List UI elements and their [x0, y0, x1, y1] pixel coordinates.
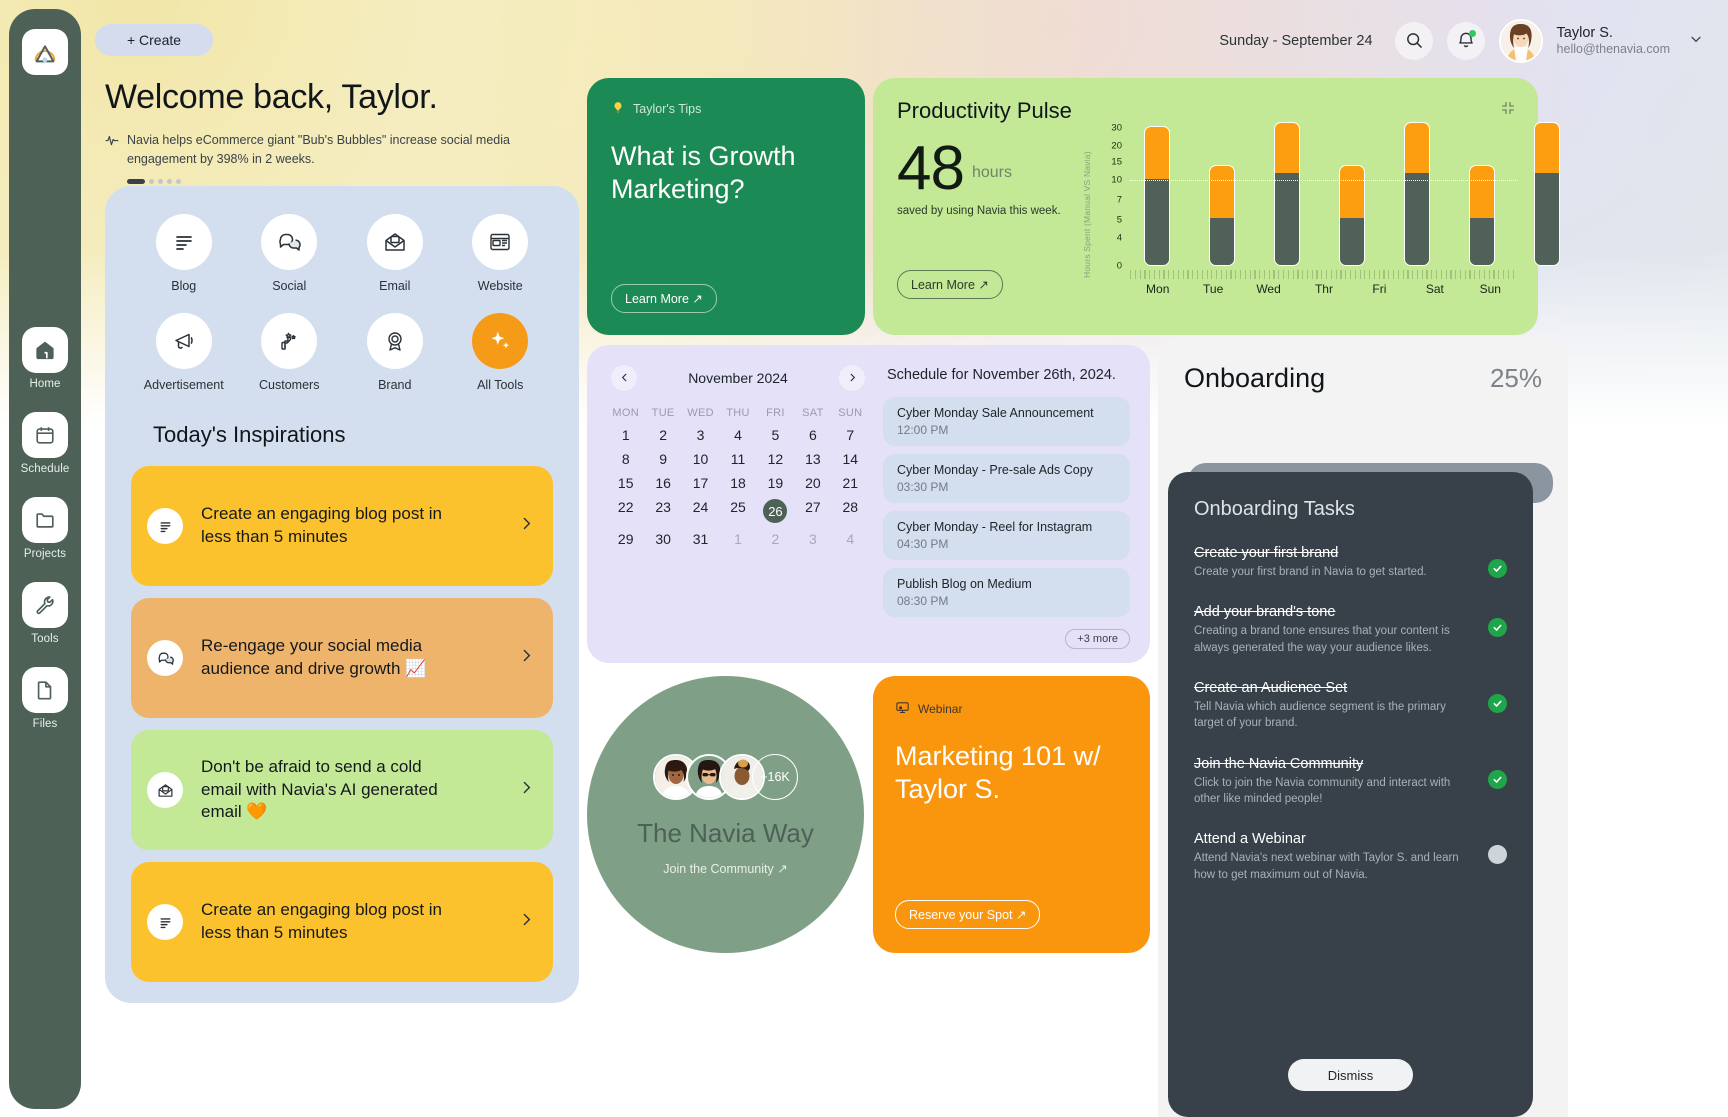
- x-tick: Wed: [1241, 282, 1296, 296]
- page-title: Welcome back, Taylor.: [105, 78, 525, 117]
- calendar-dow: SAT: [794, 407, 831, 419]
- topbar-right: Sunday - September 24: [1219, 16, 1704, 66]
- pulse-unit: hours: [972, 164, 1012, 181]
- schedule-list: Schedule for November 26th, 2024. Cyber …: [883, 363, 1130, 645]
- calendar-day[interactable]: 22: [607, 499, 644, 523]
- file-icon: [22, 667, 68, 713]
- wrench-icon: [22, 582, 68, 628]
- task-title: Attend a Webinar: [1194, 831, 1478, 847]
- schedule-item[interactable]: Publish Blog on Medium 08:30 PM: [883, 568, 1130, 617]
- dismiss-button[interactable]: Dismiss: [1288, 1059, 1413, 1091]
- productivity-pulse-card: Productivity Pulse 48hours saved by usin…: [873, 78, 1538, 335]
- blog-lines-icon: [147, 508, 183, 544]
- schedule-more-button[interactable]: +3 more: [1065, 629, 1130, 649]
- calendar-day[interactable]: 4: [719, 427, 756, 443]
- user-email: hello@thenavia.com: [1557, 42, 1670, 58]
- bar-lower-segment: [1340, 218, 1364, 265]
- task-checkbox-checked[interactable]: [1488, 618, 1507, 637]
- pulse-value: 48: [897, 134, 964, 203]
- sidebar-item-label: Tools: [31, 633, 58, 645]
- pulse-caption: saved by using Navia this week.: [897, 205, 1077, 217]
- webinar-kicker: Webinar: [895, 700, 1128, 718]
- calendar-dow: THU: [719, 407, 756, 419]
- notifications-button[interactable]: [1447, 22, 1485, 60]
- schedule-item-name: Cyber Monday - Pre-sale Ads Copy: [897, 463, 1116, 477]
- carousel-dot[interactable]: [158, 179, 163, 184]
- reserve-spot-button[interactable]: Reserve your Spot ↗: [895, 900, 1040, 929]
- blog-lines-icon: [156, 214, 212, 270]
- chart-y-ticks: 0 4 5 7 10 15 20 30: [1098, 126, 1122, 266]
- sidebar-item-label: Files: [33, 718, 58, 730]
- bar-lower-segment: [1535, 173, 1559, 265]
- bar-fri[interactable]: [1404, 122, 1430, 266]
- current-date: Sunday - September 24: [1219, 33, 1372, 49]
- tool-label: Blog: [171, 279, 196, 293]
- calendar-dow: TUE: [644, 407, 681, 419]
- tips-title: What is Growth Marketing?: [611, 140, 841, 206]
- tool-label: Website: [478, 279, 523, 293]
- calendar-day[interactable]: 12: [757, 451, 794, 467]
- y-tick: 0: [1117, 261, 1122, 272]
- navia-way-title: The Navia Way: [637, 818, 814, 849]
- activity-pulse-icon: [105, 133, 119, 169]
- calendar-dow: WED: [682, 407, 719, 419]
- schedule-item-time: 08:30 PM: [897, 594, 1116, 608]
- carousel-dot[interactable]: [176, 179, 181, 184]
- carousel-dot[interactable]: [127, 179, 145, 184]
- home-icon: [22, 327, 68, 373]
- calendar-day[interactable]: 1: [607, 427, 644, 443]
- calendar-day[interactable]: 6: [794, 427, 831, 443]
- bar-lower-segment: [1210, 218, 1234, 265]
- pulse-learn-more-button[interactable]: Learn More ↗: [897, 270, 1003, 299]
- chevron-down-icon[interactable]: [1688, 31, 1704, 52]
- x-tick: Tue: [1185, 282, 1240, 296]
- tool-label: Advertisement: [144, 378, 224, 392]
- onboarding-header: Onboarding 25%: [1184, 363, 1542, 394]
- sidebar-nav: Home Schedule Projects: [21, 327, 70, 730]
- calendar-day[interactable]: 4: [832, 531, 869, 547]
- task-description: Create your first brand in Navia to get …: [1194, 564, 1478, 580]
- calendar-day[interactable]: 1: [719, 531, 756, 547]
- carousel-dot[interactable]: [149, 179, 154, 184]
- calendar-day[interactable]: 3: [794, 531, 831, 547]
- megaphone-icon: [156, 313, 212, 369]
- tool-website[interactable]: Website: [448, 214, 554, 293]
- schedule-item-name: Publish Blog on Medium: [897, 577, 1116, 591]
- tool-brand[interactable]: Brand: [342, 313, 448, 392]
- task-description: Tell Navia which audience segment is the…: [1194, 699, 1478, 732]
- schedule-item-time: 04:30 PM: [897, 537, 1116, 551]
- calendar-dow: SUN: [832, 407, 869, 419]
- inspirations-title: Today's Inspirations: [153, 422, 553, 448]
- create-button[interactable]: + Create: [95, 24, 213, 56]
- calendar-dow: FRI: [757, 407, 794, 419]
- pulse-summary: 48hours saved by using Navia this week.: [897, 140, 1077, 217]
- y-tick: 4: [1117, 233, 1122, 244]
- calendar-day[interactable]: 16: [644, 475, 681, 491]
- carousel-dot[interactable]: [167, 179, 172, 184]
- onboarding-tasks-title: Onboarding Tasks: [1194, 498, 1507, 521]
- sidebar-item-files[interactable]: Files: [22, 667, 68, 730]
- y-tick: 5: [1117, 215, 1122, 226]
- calendar-day[interactable]: 19: [757, 475, 794, 491]
- bar-mon[interactable]: [1144, 126, 1170, 266]
- sidebar-item-home[interactable]: Home: [22, 327, 68, 390]
- inspiration-text: Create an engaging blog post in less tha…: [201, 503, 451, 549]
- presentation-screen-icon: [895, 700, 910, 718]
- user-name: Taylor S.: [1557, 24, 1670, 42]
- tool-label: Customers: [259, 378, 319, 392]
- y-tick: 15: [1111, 157, 1122, 168]
- carousel-dots[interactable]: [127, 179, 525, 184]
- y-tick: 30: [1111, 123, 1122, 134]
- tools-grid: Blog Social: [131, 214, 553, 392]
- calendar-day[interactable]: 20: [794, 475, 831, 491]
- onboarding-task[interactable]: Join the Navia Community Click to join t…: [1194, 756, 1507, 808]
- onboarding-task[interactable]: Create your first brand Create your firs…: [1194, 545, 1507, 580]
- calendar-day[interactable]: 2: [644, 427, 681, 443]
- x-tick: Sat: [1407, 282, 1462, 296]
- calendar-day[interactable]: 30: [644, 531, 681, 547]
- chat-bubbles-icon: [261, 214, 317, 270]
- open-envelope-icon: [147, 772, 183, 808]
- onboarding-task[interactable]: Attend a Webinar Attend Navia's next web…: [1194, 831, 1507, 883]
- calendar-day[interactable]: 15: [607, 475, 644, 491]
- tool-email[interactable]: Email: [342, 214, 448, 293]
- schedule-item-name: Cyber Monday Sale Announcement: [897, 406, 1116, 420]
- calendar-day[interactable]: 7: [832, 427, 869, 443]
- task-checkbox-checked[interactable]: [1488, 694, 1507, 713]
- tips-learn-more-button[interactable]: Learn More ↗: [611, 284, 717, 313]
- schedule-title: Schedule for November 26th, 2024.: [887, 367, 1130, 383]
- dashboard-page: Home Schedule Projects: [0, 0, 1728, 1117]
- calendar-day[interactable]: 5: [757, 427, 794, 443]
- y-tick: 20: [1111, 141, 1122, 152]
- chevron-right-icon[interactable]: [518, 515, 535, 537]
- tips-kicker-label: Taylor's Tips: [633, 102, 701, 116]
- inspiration-text: Re-engage your social media audience and…: [201, 635, 451, 681]
- task-description: Attend Navia's next webinar with Taylor …: [1194, 850, 1478, 883]
- chevron-right-icon[interactable]: [518, 647, 535, 669]
- calendar-header: November 2024: [607, 363, 869, 391]
- welcome-block: Welcome back, Taylor. Navia helps eComme…: [105, 78, 525, 184]
- y-tick: 7: [1117, 195, 1122, 206]
- open-envelope-icon: [367, 214, 423, 270]
- news-ticker-text: Navia helps eCommerce giant "Bub's Bubbl…: [127, 131, 525, 169]
- chart-x-axis-labels: Mon Tue Wed Thr Fri Sat Sun: [1130, 282, 1518, 296]
- pulse-title: Productivity Pulse: [897, 98, 1514, 124]
- sidebar-item-schedule[interactable]: Schedule: [21, 412, 70, 475]
- calendar-day[interactable]: 9: [644, 451, 681, 467]
- chevron-right-icon[interactable]: [518, 779, 535, 801]
- schedule-item-time: 03:30 PM: [897, 480, 1116, 494]
- calendar-day[interactable]: 14: [832, 451, 869, 467]
- schedule-item[interactable]: Cyber Monday Sale Announcement 12:00 PM: [883, 397, 1130, 446]
- x-tick: Thr: [1296, 282, 1351, 296]
- task-title: Create your first brand: [1194, 545, 1478, 561]
- tools-panel: Blog Social: [105, 186, 579, 1003]
- task-description: Creating a brand tone ensures that your …: [1194, 623, 1478, 656]
- calendar-next-button[interactable]: [839, 365, 865, 391]
- calendar-day[interactable]: 3: [682, 427, 719, 443]
- lightbulb-icon: [611, 100, 625, 118]
- inspiration-card[interactable]: Create an engaging blog post in less tha…: [131, 466, 553, 586]
- chat-bubbles-icon: [147, 640, 183, 676]
- calendar-day[interactable]: 13: [794, 451, 831, 467]
- pulse-bar-chart: Hours Spent (Manual VS Navia) 0 4 5 7 10…: [1088, 126, 1518, 326]
- tips-kicker: Taylor's Tips: [611, 100, 841, 118]
- chart-plot-area: [1130, 126, 1518, 266]
- user-meta: Taylor S. hello@thenavia.com: [1557, 24, 1670, 58]
- tool-label: Email: [379, 279, 410, 293]
- notification-dot: [1469, 30, 1476, 37]
- task-body: Create an Audience Set Tell Navia which …: [1194, 680, 1478, 732]
- calendar-day[interactable]: 31: [682, 531, 719, 547]
- avatar[interactable]: [1499, 19, 1543, 63]
- task-description: Click to join the Navia community and in…: [1194, 775, 1478, 808]
- calendar-day[interactable]: 27: [794, 499, 831, 523]
- navia-way-card[interactable]: +16K The Navia Way Join the Community ↗: [587, 676, 864, 953]
- collapse-icon[interactable]: [1500, 100, 1516, 121]
- tool-all-tools[interactable]: All Tools: [448, 313, 554, 392]
- task-title: Join the Navia Community: [1194, 756, 1478, 772]
- webinar-title: Marketing 101 w/ Taylor S.: [895, 740, 1128, 806]
- bar-lower-segment: [1275, 173, 1299, 265]
- chart-y-axis-label: Hours Spent (Manual VS Navia): [1082, 148, 1092, 278]
- schedule-item-name: Cyber Monday - Reel for Instagram: [897, 520, 1116, 534]
- sidebar: Home Schedule Projects: [9, 9, 81, 1109]
- calendar-day[interactable]: 29: [607, 531, 644, 547]
- chart-bottom-ruler: [1130, 270, 1518, 279]
- news-ticker: Navia helps eCommerce giant "Bub's Bubbl…: [105, 131, 525, 169]
- onboarding-task[interactable]: Add your brand's tone Creating a brand t…: [1194, 604, 1507, 656]
- folder-icon: [22, 497, 68, 543]
- calendar-dow: MON: [607, 407, 644, 419]
- calendar-month-label: November 2024: [688, 370, 788, 386]
- community-count-badge: +16K: [752, 754, 798, 800]
- blog-lines-icon: [147, 904, 183, 940]
- bar-lower-segment: [1470, 218, 1494, 265]
- schedule-item-time: 12:00 PM: [897, 423, 1116, 437]
- tool-social[interactable]: Social: [237, 214, 343, 293]
- calendar-day[interactable]: 25: [719, 499, 756, 523]
- inspiration-card[interactable]: Re-engage your social media audience and…: [131, 598, 553, 718]
- calendar-grid: MON TUE WED THU FRI SAT SUN 1 2 3 4 5 6 …: [607, 407, 869, 547]
- onboarding-progress-percent: 25%: [1490, 363, 1542, 394]
- calendar-day[interactable]: 18: [719, 475, 756, 491]
- task-body: Add your brand's tone Creating a brand t…: [1194, 604, 1478, 656]
- task-checkbox-checked[interactable]: [1488, 559, 1507, 578]
- bar-lower-segment: [1405, 173, 1429, 265]
- calendar-day[interactable]: 23: [644, 499, 681, 523]
- y-tick: 10: [1111, 175, 1122, 186]
- join-community-link[interactable]: Join the Community ↗: [663, 861, 787, 876]
- x-tick: Fri: [1352, 282, 1407, 296]
- calendar-icon: [22, 412, 68, 458]
- chevron-right-icon[interactable]: [518, 911, 535, 933]
- bar-wed[interactable]: [1274, 122, 1300, 266]
- webinar-card: Webinar Marketing 101 w/ Taylor S. Reser…: [873, 676, 1150, 953]
- inspiration-card[interactable]: Don't be afraid to send a cold email wit…: [131, 730, 553, 850]
- calendar-day[interactable]: 11: [719, 451, 756, 467]
- tool-label: Brand: [378, 378, 411, 392]
- onboarding-tasks-card: Onboarding Tasks Create your first brand…: [1168, 472, 1533, 1117]
- calendar-day[interactable]: 24: [682, 499, 719, 523]
- calendar-day[interactable]: 2: [757, 531, 794, 547]
- chart-reference-line: [1130, 180, 1518, 181]
- task-body: Attend a Webinar Attend Navia's next web…: [1194, 831, 1478, 883]
- task-body: Join the Navia Community Click to join t…: [1194, 756, 1478, 808]
- x-tick: Mon: [1130, 282, 1185, 296]
- schedule-item[interactable]: Cyber Monday - Pre-sale Ads Copy 03:30 P…: [883, 454, 1130, 503]
- bar-sun[interactable]: [1534, 122, 1560, 266]
- calendar-day[interactable]: 17: [682, 475, 719, 491]
- bar-lower-segment: [1145, 179, 1169, 265]
- search-icon: [1404, 30, 1424, 53]
- tool-customers[interactable]: Customers: [237, 313, 343, 392]
- chevron-left-icon: [619, 371, 630, 386]
- task-title: Add your brand's tone: [1194, 604, 1478, 620]
- task-title: Create an Audience Set: [1194, 680, 1478, 696]
- thumbs-up-stars-icon: [261, 313, 317, 369]
- sidebar-item-projects[interactable]: Projects: [22, 497, 68, 560]
- task-checkbox-checked[interactable]: [1488, 770, 1507, 789]
- calendar-day[interactable]: 28: [832, 499, 869, 523]
- taylors-tips-card: Taylor's Tips What is Growth Marketing? …: [587, 78, 865, 335]
- inspiration-text: Create an engaging blog post in less tha…: [201, 899, 451, 945]
- inspirations-list: Create an engaging blog post in less tha…: [131, 466, 553, 982]
- calendar-day[interactable]: 10: [682, 451, 719, 467]
- tool-blog[interactable]: Blog: [131, 214, 237, 293]
- sidebar-item-label: Schedule: [21, 463, 70, 475]
- calendar-prev-button[interactable]: [611, 365, 637, 391]
- award-ribbon-icon: [367, 313, 423, 369]
- sidebar-item-tools[interactable]: Tools: [22, 582, 68, 645]
- chevron-right-icon: [847, 371, 858, 386]
- browser-window-icon: [472, 214, 528, 270]
- onboarding-task[interactable]: Create an Audience Set Tell Navia which …: [1194, 680, 1507, 732]
- inspiration-text: Don't be afraid to send a cold email wit…: [201, 756, 451, 825]
- calendar-day[interactable]: 8: [607, 451, 644, 467]
- navia-logo-icon[interactable]: [22, 29, 68, 75]
- community-avatars: +16K: [653, 754, 798, 800]
- x-tick: Sun: [1463, 282, 1518, 296]
- task-body: Create your first brand Create your firs…: [1194, 545, 1478, 580]
- inspiration-card[interactable]: Create an engaging blog post in less tha…: [131, 862, 553, 982]
- calendar: November 2024 MON TUE WED THU FRI SAT SU…: [607, 363, 869, 645]
- calendar-day-selected[interactable]: 26: [757, 499, 794, 523]
- sidebar-item-label: Projects: [24, 548, 66, 560]
- sidebar-item-label: Home: [29, 378, 60, 390]
- webinar-kicker-label: Webinar: [918, 702, 962, 716]
- search-button[interactable]: [1395, 22, 1433, 60]
- tool-label: All Tools: [477, 378, 523, 392]
- calendar-day[interactable]: 21: [832, 475, 869, 491]
- schedule-item[interactable]: Cyber Monday - Reel for Instagram 04:30 …: [883, 511, 1130, 560]
- tool-advertisement[interactable]: Advertisement: [131, 313, 237, 392]
- sparkle-icon: [472, 313, 528, 369]
- calendar-schedule-card: November 2024 MON TUE WED THU FRI SAT SU…: [587, 345, 1150, 663]
- task-checkbox-unchecked[interactable]: [1488, 845, 1507, 864]
- tool-label: Social: [272, 279, 306, 293]
- onboarding-title: Onboarding: [1184, 363, 1325, 394]
